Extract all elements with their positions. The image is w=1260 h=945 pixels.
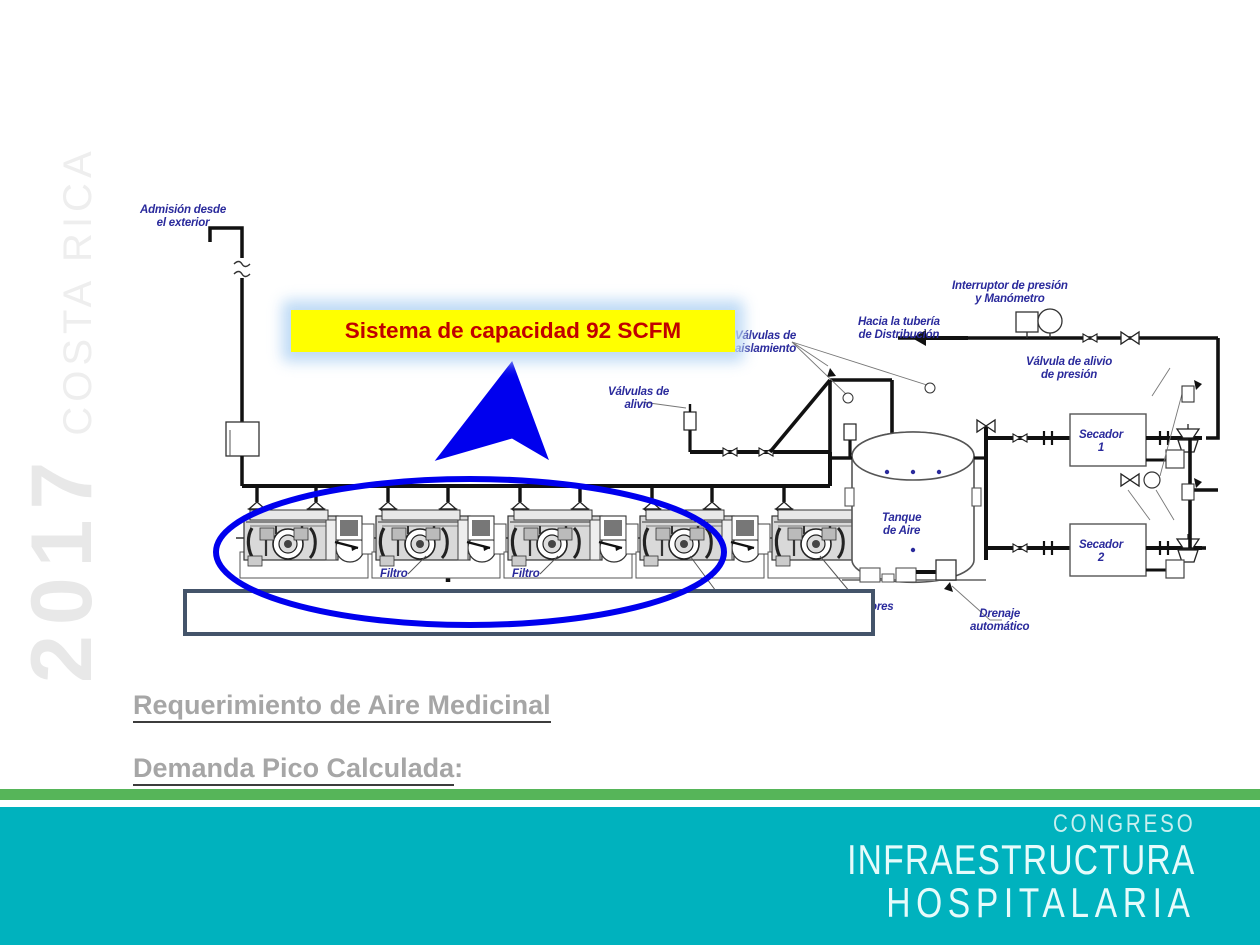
diagram-svg xyxy=(130,190,1220,650)
label-auto-drain-line2: automático xyxy=(970,621,1029,634)
label-relief-valves-line1: Válvulas de xyxy=(608,386,669,399)
label-to-distribution-line2: de Distribución xyxy=(858,329,940,342)
label-dryer-2-number: 2 xyxy=(1079,552,1123,565)
congress-logo: CONGRESO INFRAESTRUCTURA HOSPITALARIA xyxy=(760,812,1196,923)
compressor-header-line xyxy=(242,452,830,486)
slide-canvas: 2017 COSTA RICA xyxy=(0,0,1260,945)
label-pressure-switch: Interruptor de presión y Manómetro xyxy=(952,280,1068,306)
slide-watermark: 2017 COSTA RICA xyxy=(19,223,105,683)
label-relief-valves: Válvulas de alivio xyxy=(608,386,669,412)
label-intake: Admisión desde el exterior xyxy=(140,204,226,230)
label-air-tank-line2: de Aire xyxy=(882,525,921,538)
label-dryer-1-number: 1 xyxy=(1079,442,1123,455)
cover-rectangle-shape xyxy=(183,589,875,636)
label-isolation-valves-line1: Válvulas de xyxy=(735,330,796,343)
label-to-distribution: Hacia la tubería de Distribución xyxy=(858,316,940,342)
label-relief-valves-line2: alivio xyxy=(608,399,669,412)
logo-line-hospitalaria: HOSPITALARIA xyxy=(848,882,1196,923)
label-filter-b: Filtro xyxy=(512,568,540,581)
intake-piping xyxy=(210,228,259,486)
body-line-peak-demand-text: Demanda Pico Calculada xyxy=(133,753,454,786)
body-line-requirement: Requerimiento de Aire Medicinal xyxy=(133,690,551,721)
label-auto-drain-line1: Drenaje xyxy=(970,608,1029,621)
compressor-unit-1 xyxy=(240,510,374,578)
label-air-tank-line1: Tanque xyxy=(882,512,921,525)
label-isolation-valves: Válvulas de aislamiento xyxy=(735,330,796,356)
label-air-tank: Tanque de Aire xyxy=(882,512,921,538)
label-pressure-switch-line2: y Manómetro xyxy=(952,293,1068,306)
watermark-country: COSTA RICA xyxy=(58,146,98,435)
label-to-distribution-line1: Hacia la tubería xyxy=(858,316,940,329)
medical-air-system-diagram: Admisión desde el exterior Válvulas de a… xyxy=(130,190,1220,650)
label-auto-drain: Drenaje automático xyxy=(970,608,1029,634)
label-pressure-relief-line2: de presión xyxy=(1026,369,1112,382)
label-pressure-relief-line1: Válvula de alivio xyxy=(1026,356,1112,369)
capacity-callout: Sistema de capacidad 92 SCFM xyxy=(291,310,735,352)
label-dryer-2-name: Secador xyxy=(1079,539,1123,552)
logo-line-infraestructura: INFRAESTRUCTURA xyxy=(848,839,1196,880)
label-filter-a: Filtro xyxy=(380,568,408,581)
label-pressure-relief-valve: Válvula de alivio de presión xyxy=(1026,356,1112,382)
label-dryer-1: Secador 1 xyxy=(1079,429,1123,455)
compressor-unit-4 xyxy=(636,510,770,578)
label-intake-line1: Admisión desde xyxy=(140,204,226,217)
label-dryer-1-name: Secador xyxy=(1079,429,1123,442)
label-dryer-2: Secador 2 xyxy=(1079,539,1123,565)
label-pressure-switch-line1: Interruptor de presión xyxy=(952,280,1068,293)
body-line-peak-demand: Demanda Pico Calculada: xyxy=(133,753,463,784)
body-line-requirement-text: Requerimiento de Aire Medicinal xyxy=(133,690,551,723)
logo-line-congreso: CONGRESO xyxy=(839,812,1196,837)
label-intake-line2: el exterior xyxy=(140,217,226,230)
footer-green-accent-bar xyxy=(0,789,1260,800)
body-line-peak-demand-colon: : xyxy=(454,753,463,783)
label-isolation-valves-line2: aislamiento xyxy=(735,343,796,356)
watermark-year: 2017 xyxy=(19,452,105,683)
capacity-callout-text: Sistema de capacidad 92 SCFM xyxy=(345,318,681,344)
